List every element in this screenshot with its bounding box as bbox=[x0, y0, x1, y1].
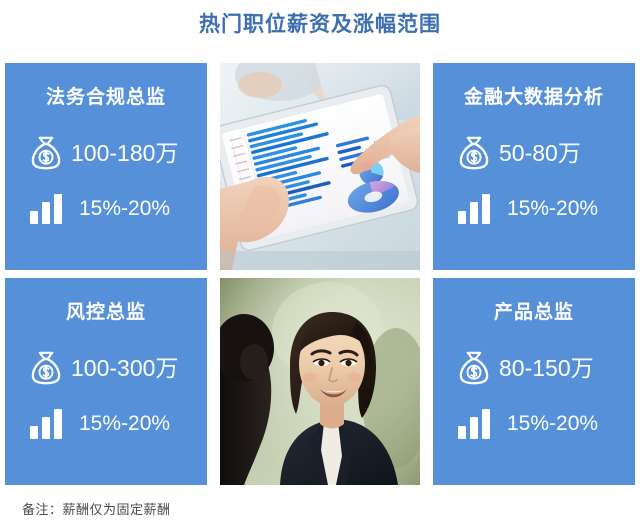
salary-value: 50-80万 bbox=[499, 140, 581, 166]
salary-card-risk-control-director[interactable]: 风控总监 100-300万 bbox=[5, 278, 207, 485]
growth-row: 15%-20% bbox=[453, 183, 615, 235]
bar-chart-icon bbox=[453, 407, 495, 441]
money-bag-icon bbox=[453, 132, 495, 174]
businesswoman-photo bbox=[220, 278, 420, 485]
growth-value: 15%-20% bbox=[79, 411, 170, 437]
card-stats: 100-180万 15%-20% bbox=[5, 127, 207, 235]
page-title: 热门职位薪资及涨幅范围 bbox=[0, 10, 640, 40]
salary-row: 80-150万 bbox=[453, 342, 615, 394]
salary-value: 80-150万 bbox=[499, 355, 594, 381]
salary-card-legal-compliance-director[interactable]: 法务合规总监 100-180万 bbox=[5, 63, 207, 270]
money-bag-icon bbox=[25, 347, 67, 389]
salary-card-product-director[interactable]: 产品总监 80-150万 bbox=[433, 278, 635, 485]
salary-card-financial-big-data-analysis[interactable]: 金融大数据分析 50-80万 bbox=[433, 63, 635, 270]
card-title: 法务合规总监 bbox=[46, 85, 166, 111]
salary-row: 100-180万 bbox=[25, 127, 187, 179]
bar-chart-icon bbox=[453, 192, 495, 226]
money-bag-icon bbox=[25, 132, 67, 174]
card-stats: 80-150万 15%-20% bbox=[433, 342, 635, 450]
card-title: 金融大数据分析 bbox=[464, 85, 604, 111]
growth-value: 15%-20% bbox=[507, 411, 598, 437]
money-bag-icon bbox=[453, 347, 495, 389]
salary-card-grid: 法务合规总监 100-180万 bbox=[5, 63, 635, 485]
bar-chart-icon bbox=[25, 407, 67, 441]
growth-row: 15%-20% bbox=[25, 183, 187, 235]
card-stats: 100-300万 15%-20% bbox=[5, 342, 207, 450]
growth-value: 15%-20% bbox=[507, 196, 598, 222]
card-title: 产品总监 bbox=[494, 300, 574, 326]
salary-value: 100-300万 bbox=[71, 355, 178, 381]
salary-row: 100-300万 bbox=[25, 342, 187, 394]
growth-row: 15%-20% bbox=[25, 398, 187, 450]
tablet-charts-photo bbox=[220, 63, 420, 270]
footnote-note: 备注：薪酬仅为固定薪酬 bbox=[22, 500, 171, 520]
card-stats: 50-80万 15%-20% bbox=[433, 127, 635, 235]
bar-chart-icon bbox=[25, 192, 67, 226]
infographic-page: 热门职位薪资及涨幅范围 法务合规总监 100-180万 bbox=[0, 0, 640, 529]
salary-row: 50-80万 bbox=[453, 127, 615, 179]
growth-value: 15%-20% bbox=[79, 196, 170, 222]
growth-row: 15%-20% bbox=[453, 398, 615, 450]
card-title: 风控总监 bbox=[66, 300, 146, 326]
salary-value: 100-180万 bbox=[71, 140, 178, 166]
